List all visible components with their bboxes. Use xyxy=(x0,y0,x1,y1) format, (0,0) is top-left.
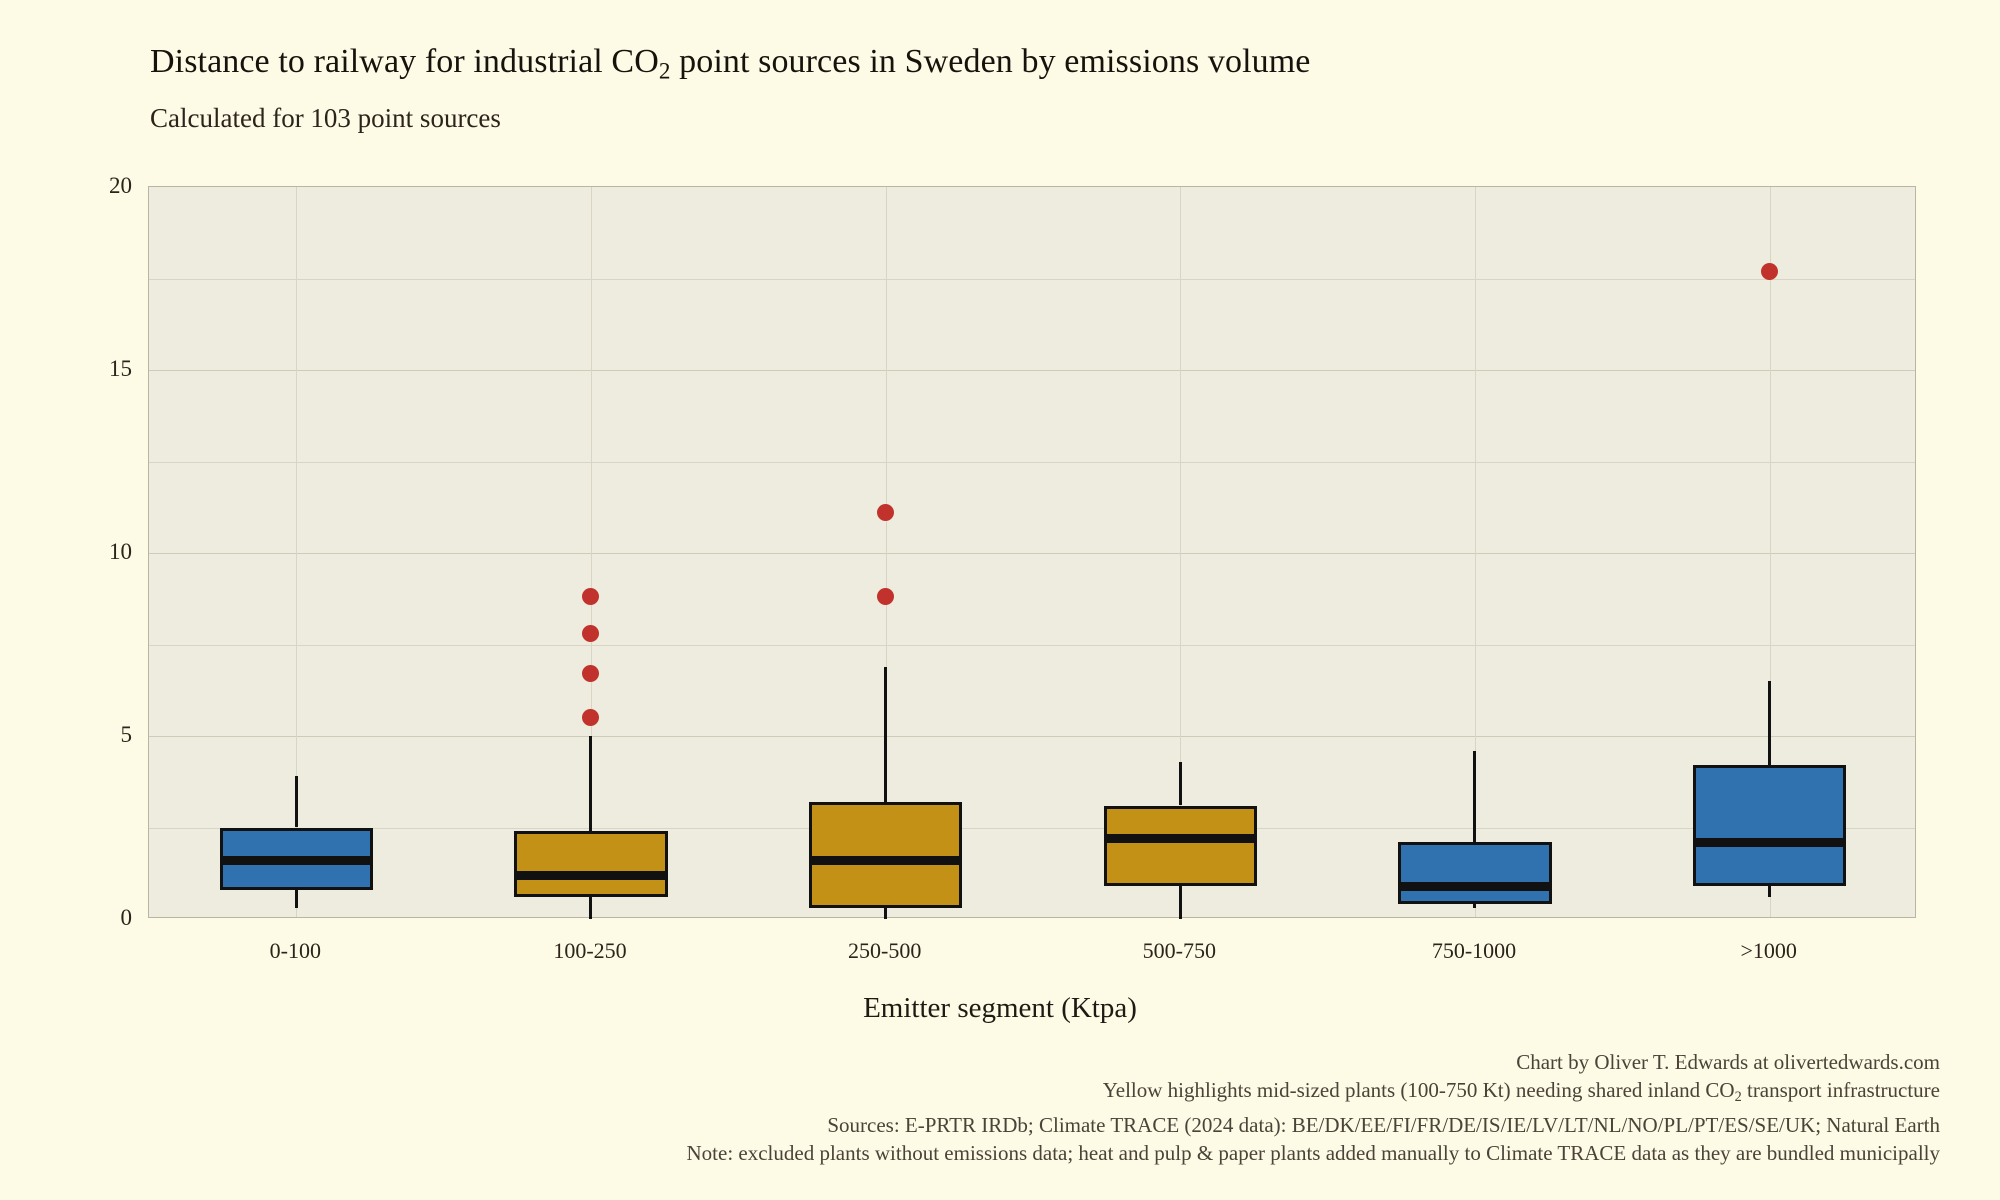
chart-title-pre: Distance to railway for industrial CO xyxy=(150,43,659,80)
footer-notes: Chart by Oliver T. Edwards at olivertedw… xyxy=(0,1048,1940,1167)
footer-highlight-pre: Yellow highlights mid-sized plants (100-… xyxy=(1103,1078,1735,1102)
gridline-minor xyxy=(149,279,1915,280)
y-axis-tick-label: 20 xyxy=(12,173,132,199)
footer-highlight-subscript: 2 xyxy=(1735,1089,1742,1105)
box-iqr[interactable] xyxy=(1104,806,1257,887)
x-axis-tick-label: 100-250 xyxy=(553,938,626,964)
median-line xyxy=(1693,838,1846,847)
whisker-lower xyxy=(884,908,887,919)
median-line xyxy=(514,871,667,880)
whisker-upper xyxy=(295,776,298,827)
gridline-minor xyxy=(149,462,1915,463)
box-iqr[interactable] xyxy=(1693,765,1846,886)
outlier-point[interactable] xyxy=(1761,263,1778,280)
footer-highlight-post: transport infrastructure xyxy=(1742,1078,1940,1102)
whisker-upper xyxy=(1473,751,1476,843)
outlier-point[interactable] xyxy=(877,504,894,521)
chart-title-subscript: 2 xyxy=(659,58,671,84)
whisker-upper xyxy=(589,736,592,831)
outlier-point[interactable] xyxy=(582,665,599,682)
chart-page: Distance to railway for industrial CO2 p… xyxy=(0,0,2000,1200)
box-iqr[interactable] xyxy=(514,831,667,897)
whisker-lower xyxy=(1179,886,1182,919)
x-axis-tick-label: 500-750 xyxy=(1143,938,1216,964)
whisker-upper xyxy=(884,667,887,802)
footer-sources: Sources: E-PRTR IRDb; Climate TRACE (202… xyxy=(0,1111,1940,1139)
outlier-point[interactable] xyxy=(582,625,599,642)
boxplot-group[interactable] xyxy=(1104,187,1257,919)
plot-area xyxy=(148,186,1916,918)
whisker-lower xyxy=(295,890,298,908)
outlier-point[interactable] xyxy=(582,588,599,605)
boxplot-group[interactable] xyxy=(1398,187,1551,919)
boxplot-group[interactable] xyxy=(809,187,962,919)
whisker-lower xyxy=(589,897,592,919)
boxplot-group[interactable] xyxy=(514,187,667,919)
median-line xyxy=(1398,882,1551,891)
x-axis-tick-label: >1000 xyxy=(1740,938,1796,964)
boxplot-group[interactable] xyxy=(220,187,373,919)
boxplot-group[interactable] xyxy=(1693,187,1846,919)
gridline-minor xyxy=(149,645,1915,646)
gridline-minor xyxy=(149,828,1915,829)
gridline-major xyxy=(149,553,1915,554)
title-block: Distance to railway for industrial CO2 p… xyxy=(150,40,1850,137)
chart-title-post: point sources in Sweden by emissions vol… xyxy=(671,43,1311,80)
chart-title: Distance to railway for industrial CO2 p… xyxy=(150,40,1850,93)
y-axis-tick-label: 10 xyxy=(12,539,132,565)
footer-note: Note: excluded plants without emissions … xyxy=(0,1139,1940,1167)
median-line xyxy=(220,856,373,865)
box-iqr[interactable] xyxy=(1398,842,1551,904)
footer-credit: Chart by Oliver T. Edwards at olivertedw… xyxy=(0,1048,1940,1076)
whisker-lower xyxy=(1768,886,1771,897)
median-line xyxy=(809,856,962,865)
outlier-point[interactable] xyxy=(582,709,599,726)
gridline-major xyxy=(149,736,1915,737)
whisker-upper xyxy=(1179,762,1182,806)
whisker-upper xyxy=(1768,681,1771,765)
footer-highlight-note: Yellow highlights mid-sized plants (100-… xyxy=(0,1076,1940,1111)
y-axis-tick-label: 0 xyxy=(12,905,132,931)
x-axis-title: Emitter segment (Ktpa) xyxy=(0,992,2000,1025)
y-axis-tick-label: 5 xyxy=(12,722,132,748)
x-axis-tick-label: 250-500 xyxy=(848,938,921,964)
whisker-lower xyxy=(1473,904,1476,908)
median-line xyxy=(1104,834,1257,843)
gridline-major xyxy=(149,370,1915,371)
x-axis-tick-label: 0-100 xyxy=(270,938,321,964)
y-axis-tick-label: 15 xyxy=(12,356,132,382)
x-axis-tick-label: 750-1000 xyxy=(1432,938,1516,964)
chart-subtitle: Calculated for 103 point sources xyxy=(150,99,1850,137)
outlier-point[interactable] xyxy=(877,588,894,605)
